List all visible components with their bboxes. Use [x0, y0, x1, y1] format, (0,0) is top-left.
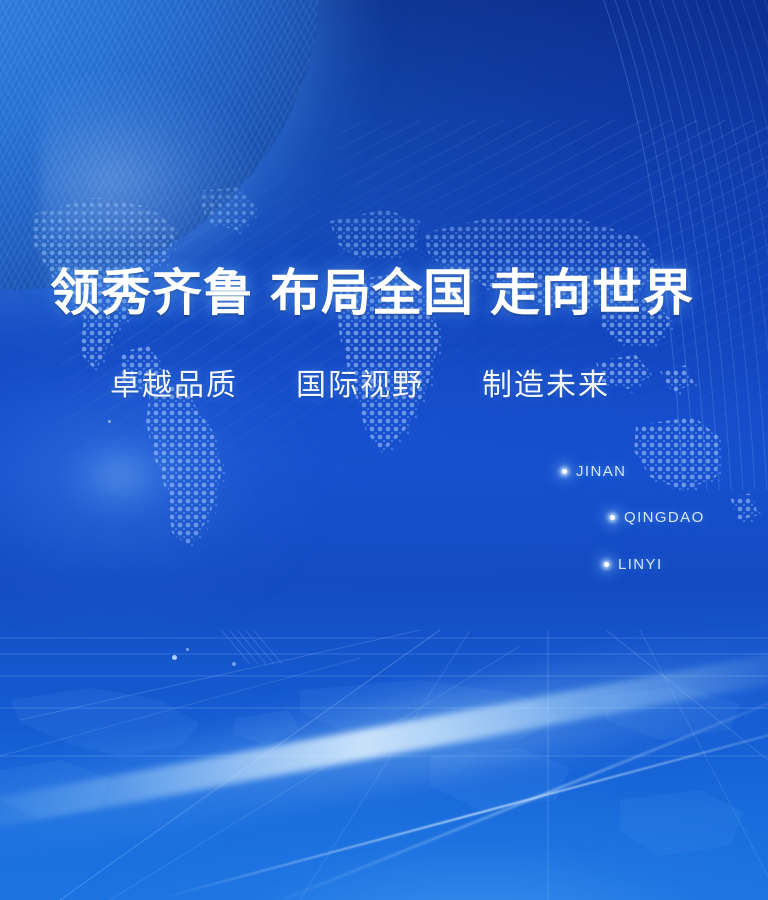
city-label-qingdao: QINGDAO [624, 509, 705, 526]
map-pin-icon [604, 562, 609, 567]
headline: 领秀齐鲁布局全国走向世界 [50, 268, 694, 318]
city-marker-jinan[interactable]: JINAN [562, 463, 626, 480]
subheadline: 卓越品质国际视野制造未来 [110, 371, 610, 401]
headline-segment-2: 布局全国 [270, 263, 474, 322]
subheadline-segment-3: 制造未来 [482, 368, 610, 403]
banner-content: 领秀齐鲁布局全国走向世界 卓越品质国际视野制造未来 JINAN QINGDAO … [0, 0, 768, 900]
map-pin-icon [562, 469, 567, 474]
city-label-linyi: LINYI [618, 556, 663, 573]
headline-segment-1: 领秀齐鲁 [50, 263, 254, 322]
subheadline-segment-2: 国际视野 [296, 368, 424, 403]
city-label-jinan: JINAN [576, 463, 626, 480]
hero-banner: 领秀齐鲁布局全国走向世界 卓越品质国际视野制造未来 JINAN QINGDAO … [0, 0, 768, 900]
headline-segment-3: 走向世界 [490, 263, 694, 322]
subheadline-segment-1: 卓越品质 [110, 368, 238, 403]
city-marker-linyi[interactable]: LINYI [604, 556, 663, 573]
map-pin-icon [610, 515, 615, 520]
city-marker-qingdao[interactable]: QINGDAO [610, 509, 705, 526]
